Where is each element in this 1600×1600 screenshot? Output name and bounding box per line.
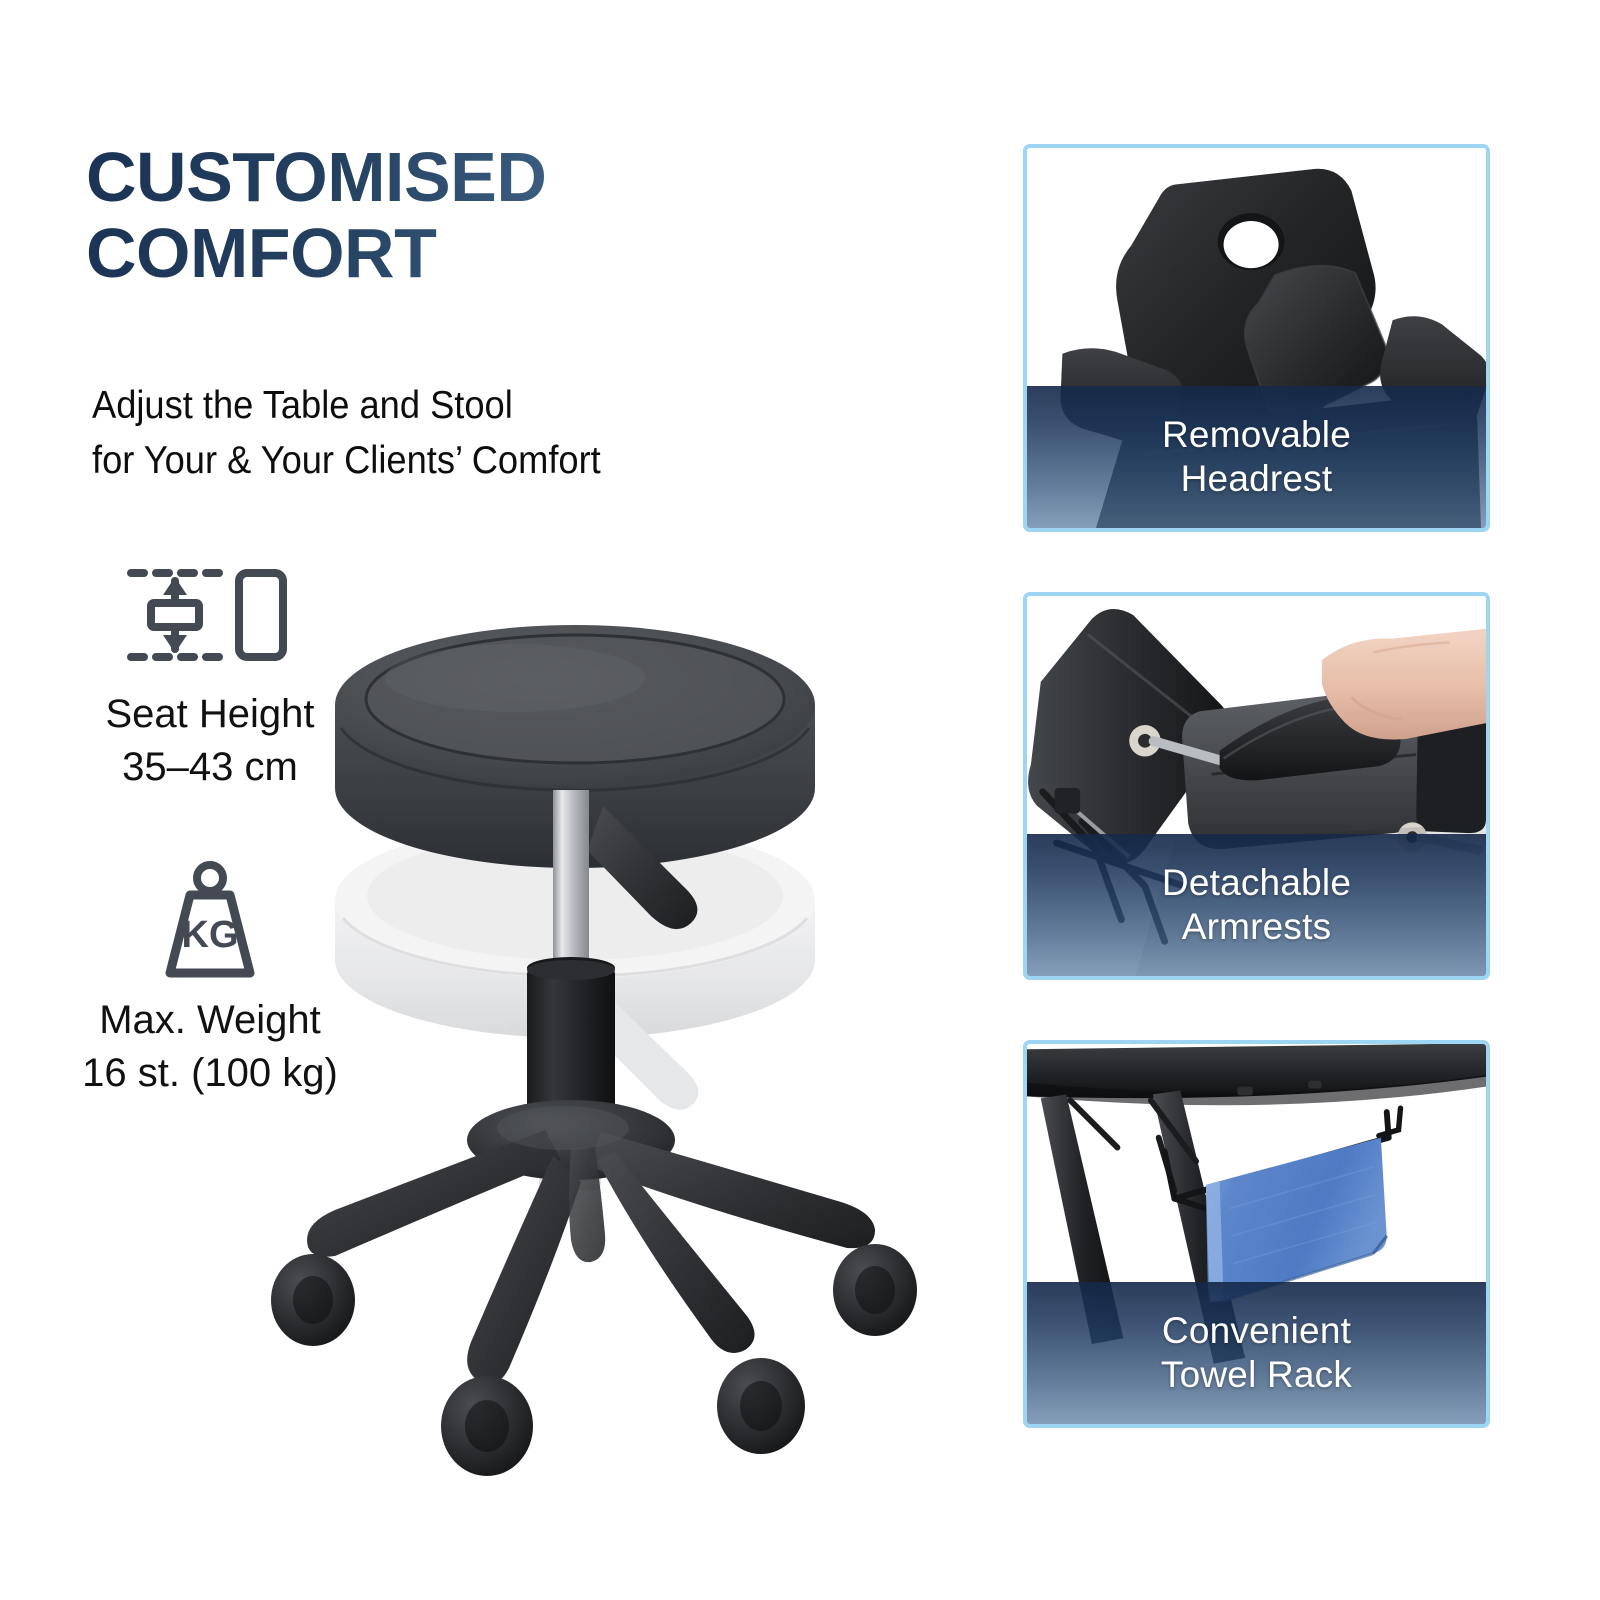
product-image-stool [215,600,975,1500]
feature-caption-detachable-armrests: Detachable Armrests [1027,834,1486,976]
page-subtitle: Adjust the Table and Stool for Your & Yo… [92,378,799,489]
page-title-line-2: COMFORT [86,216,786,292]
feature-caption-line-1: Detachable [1162,861,1351,905]
feature-card-convenient-towel-rack[interactable]: Convenient Towel Rack [1023,1040,1490,1428]
feature-card-detachable-armrests[interactable]: Detachable Armrests [1023,592,1490,980]
page-title: CUSTOMISED COMFORT [86,140,786,291]
feature-card-removable-headrest[interactable]: Removable Headrest [1023,144,1490,532]
feature-caption-line-2: Armrests [1182,905,1332,949]
page-title-line-1: CUSTOMISED [86,138,546,216]
page-subtitle-line-2: for Your & Your Clients’ Comfort [92,433,799,488]
feature-caption-line-1: Convenient [1162,1309,1351,1353]
feature-caption-line-2: Towel Rack [1161,1353,1352,1397]
page-subtitle-line-1: Adjust the Table and Stool [92,378,799,433]
feature-caption-convenient-towel-rack: Convenient Towel Rack [1027,1282,1486,1424]
feature-caption-removable-headrest: Removable Headrest [1027,386,1486,528]
feature-caption-line-2: Headrest [1181,457,1333,501]
feature-caption-line-1: Removable [1162,413,1351,457]
